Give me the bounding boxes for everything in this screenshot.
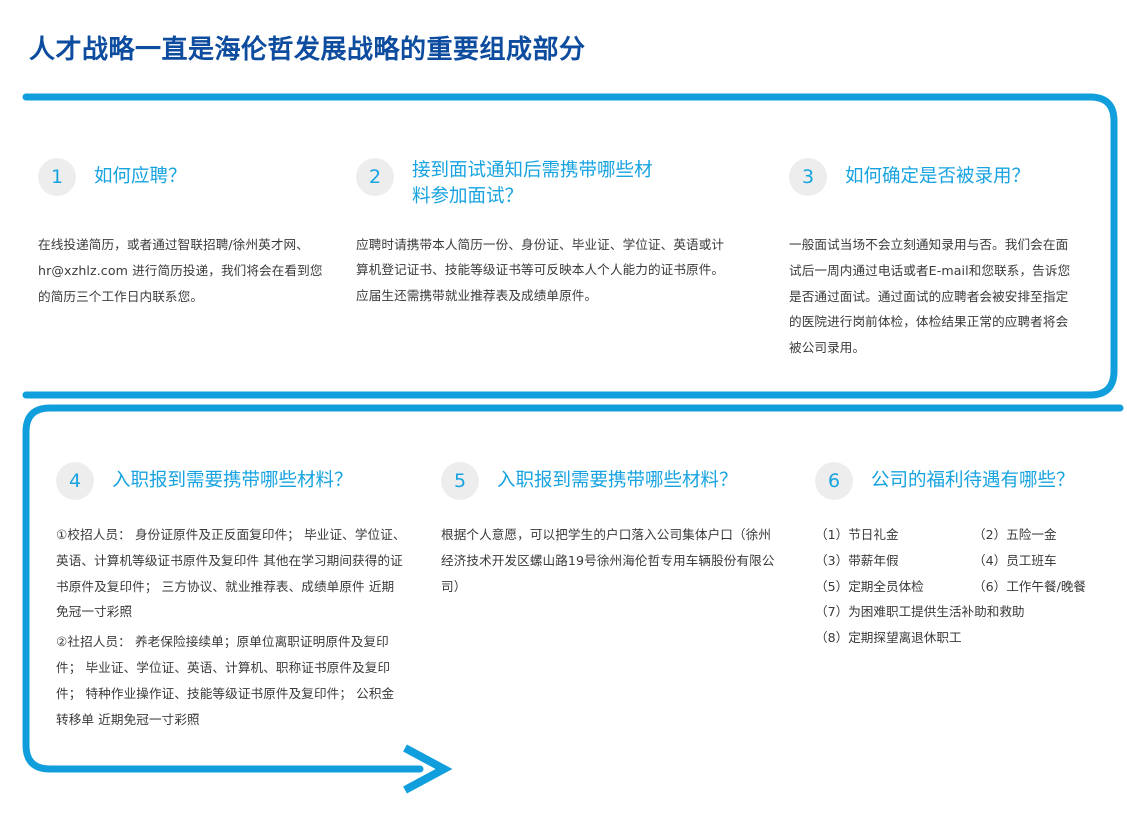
card-1-body: 在线投递简历，或者通过智联招聘/徐州英才网、 hr@xzhlz.com 进行简历… [38,232,328,309]
benefit-item: （3）带薪年假 [815,548,965,574]
card-1-number: 1 [38,158,76,196]
page-title: 人才战略一直是海伦哲发展战略的重要组成部分 [29,29,586,66]
benefit-item: （1）节日礼金 [815,522,965,548]
card-4-paragraph-1: ①校招人员： 身份证原件及正反面复印件； 毕业证、学位证、英语、计算机等级证书原… [56,522,406,625]
card-2-title: 接到面试通知后需携带哪些材料参加面试？ [412,158,662,211]
card-6-number: 6 [815,462,853,500]
card-3: 3 如何确定是否被录用？ 一般面试当场不会立刻通知录用与否。我们会在面试后一周内… [789,158,1079,361]
card-5-head: 5 入职报到需要携带哪些材料？ [441,462,796,500]
benefit-item: （2）五险一金 [973,522,1115,548]
card-6: 6 公司的福利待遇有哪些？ （1）节日礼金（2）五险一金（3）带薪年假（4）员工… [815,462,1115,651]
card-2-number: 2 [356,158,394,196]
card-5-paragraph-1: 根据个人意愿，可以把学生的户口落入公司集体户口（徐州经济技术开发区螺山路19号徐… [441,522,779,599]
benefit-item: （5）定期全员体检 [815,574,965,600]
card-6-head: 6 公司的福利待遇有哪些？ [815,462,1115,500]
card-1-paragraph-1: 在线投递简历，或者通过智联招聘/徐州英才网、 hr@xzhlz.com 进行简历… [38,232,328,309]
benefit-item: （4）员工班车 [973,548,1115,574]
card-1-head: 1 如何应聘？ [38,158,328,196]
card-3-title: 如何确定是否被录用？ [845,158,1030,190]
card-5: 5 入职报到需要携带哪些材料？ 根据个人意愿，可以把学生的户口落入公司集体户口（… [441,462,796,599]
card-4-title: 入职报到需要携带哪些材料？ [112,462,353,494]
card-3-body: 一般面试当场不会立刻通知录用与否。我们会在面试后一周内通过电话或者E-mail和… [789,232,1077,361]
card-1: 1 如何应聘？ 在线投递简历，或者通过智联招聘/徐州英才网、 hr@xzhlz.… [38,158,328,309]
card-3-head: 3 如何确定是否被录用？ [789,158,1079,196]
card-3-paragraph-1: 一般面试当场不会立刻通知录用与否。我们会在面试后一周内通过电话或者E-mail和… [789,232,1077,361]
card-2-body: 应聘时请携带本人简历一份、身份证、毕业证、学位证、英语或计算机登记证书、技能等级… [356,232,726,309]
card-4: 4 入职报到需要携带哪些材料？ ①校招人员： 身份证原件及正反面复印件； 毕业证… [56,462,426,733]
card-2: 2 接到面试通知后需携带哪些材料参加面试？ 应聘时请携带本人简历一份、身份证、毕… [356,158,676,309]
card-4-paragraph-2: ②社招人员： 养老保险接续单；原单位离职证明原件及复印件； 毕业证、学位证、英语… [56,629,406,732]
card-1-title: 如何应聘？ [94,158,187,190]
card-4-head: 4 入职报到需要携带哪些材料？ [56,462,426,500]
card-4-body: ①校招人员： 身份证原件及正反面复印件； 毕业证、学位证、英语、计算机等级证书原… [56,522,406,733]
arrow-head-icon [405,748,444,790]
card-6-title: 公司的福利待遇有哪些？ [871,462,1075,494]
card-2-head: 2 接到面试通知后需携带哪些材料参加面试？ [356,158,676,211]
card-5-body: 根据个人意愿，可以把学生的户口落入公司集体户口（徐州经济技术开发区螺山路19号徐… [441,522,779,599]
card-5-title: 入职报到需要携带哪些材料？ [497,462,738,494]
card-4-number: 4 [56,462,94,500]
card-5-number: 5 [441,462,479,500]
benefit-item: （8）定期探望离退休职工 [815,625,1115,651]
card-3-number: 3 [789,158,827,196]
benefit-item: （6）工作午餐/晚餐 [973,574,1115,600]
card-6-benefit-list: （1）节日礼金（2）五险一金（3）带薪年假（4）员工班车（5）定期全员体检（6）… [815,522,1115,651]
benefit-item: （7）为困难职工提供生活补助和救助 [815,599,1115,625]
card-2-paragraph-1: 应聘时请携带本人简历一份、身份证、毕业证、学位证、英语或计算机登记证书、技能等级… [356,232,726,309]
